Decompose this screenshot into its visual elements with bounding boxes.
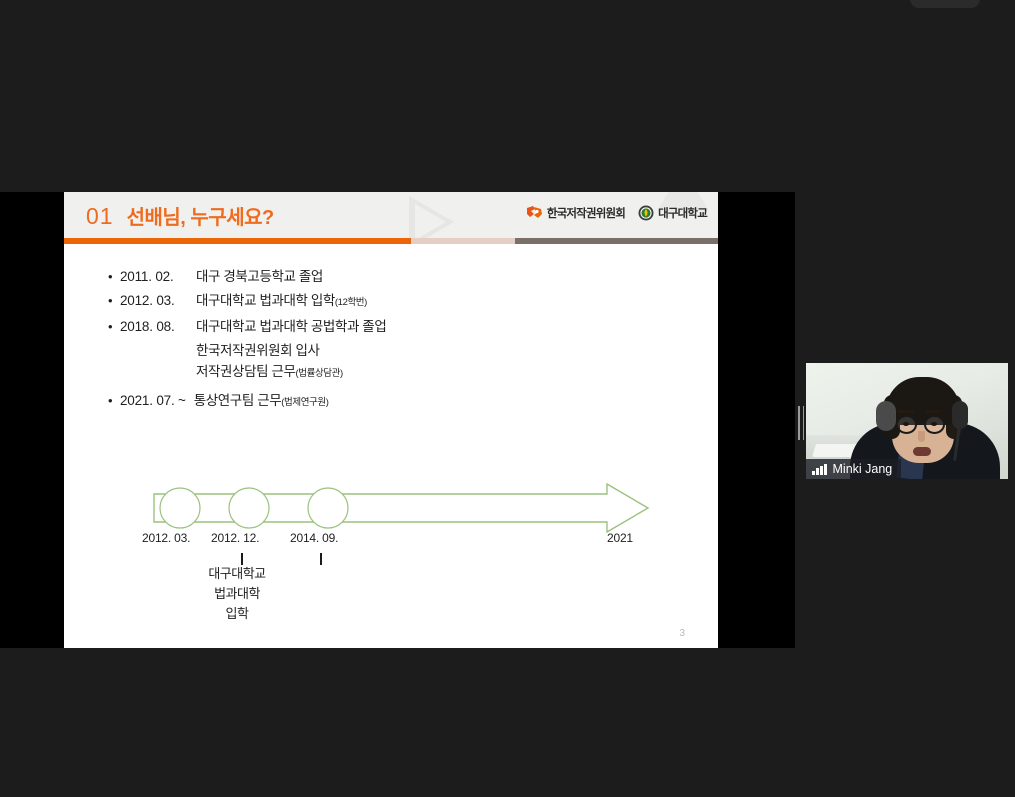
headphone-left-icon <box>876 401 896 431</box>
timeline-caption-line-2: 법과대학 <box>172 584 302 604</box>
slide-page-number: 3 <box>679 628 685 639</box>
slide-header: 01 선배님, 누구세요? 한국저작권위원회 <box>64 192 718 238</box>
video-person-brow-left <box>898 410 914 413</box>
career-bullet-list: • 2011. 02. 대구 경북고등학교 졸업 • 2012. 03. 대구대… <box>108 266 386 416</box>
drag-handle-line <box>803 406 805 440</box>
video-person-eye-right <box>931 422 937 426</box>
bullet-superscript: (12학번) <box>335 292 367 313</box>
timeline-labels: 2012. 03. 2012. 12. 2014. 09. 2021 <box>142 531 662 549</box>
sub-line-text: 한국저작권위원회 입사 <box>196 343 320 358</box>
drag-handle-line <box>798 406 800 440</box>
page-title: 선배님, 누구세요? <box>127 201 274 230</box>
bullet-date: 2012. 03. <box>120 290 196 311</box>
list-item: • 2011. 02. 대구 경북고등학교 졸업 <box>108 266 386 287</box>
video-person-eye-left <box>903 422 909 426</box>
participant-name-label: Minki Jang <box>833 462 893 476</box>
logo-daegu-university: 대구대학교 <box>638 205 707 221</box>
participant-name-strip: Minki Jang <box>806 459 901 479</box>
timeline-caption-line-3: 입학 <box>172 604 302 624</box>
video-person-nose <box>918 431 925 442</box>
slide-section-number: 01 <box>86 203 114 230</box>
timeline-caption: 대구대학교 법과대학 입학 <box>172 564 302 624</box>
bullet-marker: • <box>108 266 120 287</box>
bullet-superscript: (법제연구원) <box>281 392 328 413</box>
bullet-marker: • <box>108 290 120 311</box>
bullet-description: 통상연구팀 근무 <box>194 390 282 411</box>
bullet-marker: • <box>108 390 120 411</box>
bullet-description: 대구대학교 법과대학 입학 <box>196 290 335 311</box>
logo-kcc-label: 한국저작권위원회 <box>547 205 625 221</box>
video-person-brow-right <box>925 410 941 413</box>
timeline-caption-line-1: 대구대학교 <box>172 564 302 584</box>
sub-line-superscript: (법률상담관) <box>296 368 343 379</box>
bullet-date: 2018. 08. <box>120 316 196 337</box>
video-person-mouth <box>913 447 931 456</box>
timeline-label-3: 2014. 09. <box>290 531 338 545</box>
daegu-university-logo-icon <box>638 205 654 221</box>
video-panel-drag-handle[interactable] <box>797 405 805 441</box>
list-item-sub: 저작권상담팀 근무(법률상담관) <box>196 361 386 384</box>
timeline-tick-3 <box>320 553 322 565</box>
timeline-node-3 <box>308 488 348 528</box>
kcc-logo-icon <box>526 205 543 221</box>
bullet-date: 2011. 02. <box>120 266 196 287</box>
logo-kcc: 한국저작권위원회 <box>526 205 625 221</box>
slide-title-row: 01 선배님, 누구세요? <box>86 201 274 230</box>
timeline-node-2 <box>229 488 269 528</box>
timeline-label-end: 2021 <box>607 531 633 545</box>
timeline-label-1: 2012. 03. <box>142 531 190 545</box>
meeting-screenshare-window: 01 선배님, 누구세요? 한국저작권위원회 <box>0 0 1015 797</box>
logo-daegu-university-label: 대구대학교 <box>658 205 707 221</box>
list-item: • 2018. 08. 대구대학교 법과대학 공법학과 졸업 <box>108 316 386 337</box>
timeline-label-2: 2012. 12. <box>211 531 259 545</box>
bullet-date: 2021. 07. ~ <box>120 390 194 411</box>
list-item: • 2021. 07. ~ 통상연구팀 근무 (법제연구원) <box>108 390 386 413</box>
logo-group: 한국저작권위원회 대구대학교 <box>526 205 707 221</box>
collapsed-toolbar-pill[interactable] <box>910 0 980 8</box>
participant-video-tile[interactable]: Minki Jang <box>806 363 1008 479</box>
bullet-marker: • <box>108 316 120 337</box>
list-item-sub: 한국저작권위원회 입사 <box>196 340 386 361</box>
sub-line-text: 저작권상담팀 근무 <box>196 364 296 379</box>
signal-strength-icon <box>812 464 827 475</box>
list-item: • 2012. 03. 대구대학교 법과대학 입학 (12학번) <box>108 290 386 313</box>
watermark-triangle-inner-icon <box>415 204 446 238</box>
presentation-slide[interactable]: 01 선배님, 누구세요? 한국저작권위원회 <box>64 192 718 648</box>
bullet-description: 대구대학교 법과대학 공법학과 졸업 <box>196 316 386 337</box>
timeline-arrow-shape <box>154 484 648 532</box>
bullet-description: 대구 경북고등학교 졸업 <box>196 266 323 287</box>
eyeglasses-bridge-icon <box>916 422 925 424</box>
slide-body: • 2011. 02. 대구 경북고등학교 졸업 • 2012. 03. 대구대… <box>64 244 718 648</box>
timeline-node-1 <box>160 488 200 528</box>
